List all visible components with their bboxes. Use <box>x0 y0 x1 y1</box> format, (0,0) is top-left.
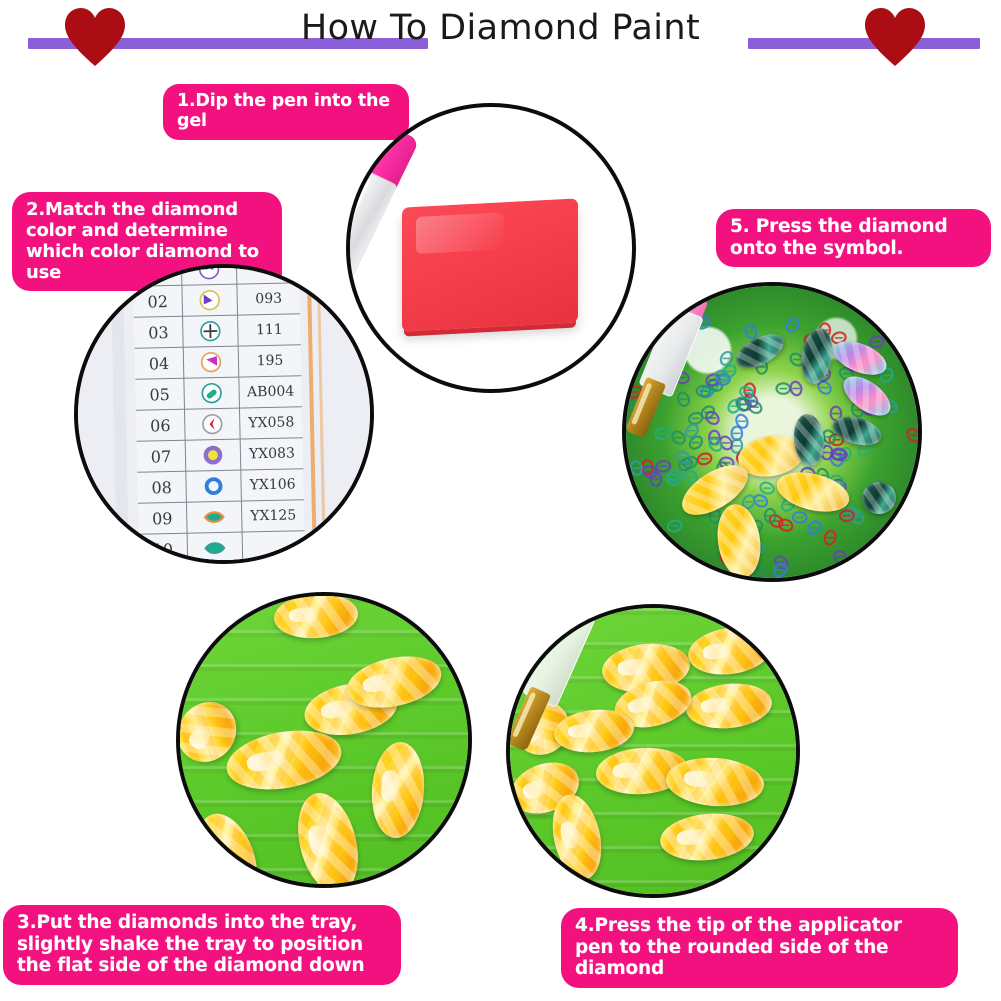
plus-cross-icon <box>183 316 239 347</box>
infographic-canvas: How To Diamond Paint 1.Dip the pen into … <box>0 0 1001 1001</box>
chart-row: 07YX083 <box>137 438 304 472</box>
chart-row: 09YX125 <box>138 500 305 534</box>
diamond-gem <box>684 680 774 733</box>
step-3-label: 3.Put the diamonds into the tray, slight… <box>3 905 401 985</box>
step-1-photo <box>346 103 636 393</box>
diamond-gem <box>664 755 765 810</box>
left-chevron-icon <box>185 409 241 440</box>
chart-row-code: AB004 <box>239 383 301 400</box>
heart-icon <box>862 6 928 68</box>
chart-row: 04195 <box>135 345 302 379</box>
step-5-photo <box>622 282 922 582</box>
chart-row-number: 10 <box>139 533 189 564</box>
chart-row-code: 195 <box>239 352 301 369</box>
marquise-leaf-icon <box>187 502 243 533</box>
chart-row: 08YX106 <box>137 469 304 503</box>
chart-row-code: YX125 <box>242 507 304 524</box>
chart-row-number: 04 <box>135 347 185 379</box>
chart-row: 03111 <box>134 314 301 348</box>
diamond-gem <box>273 592 360 641</box>
chart-row-code: YX106 <box>241 476 303 493</box>
step-4-label: 4.Press the tip of the applicator pen to… <box>561 908 958 988</box>
chart-row-number: 05 <box>135 378 185 410</box>
chart-row-number: 06 <box>136 409 186 441</box>
header: How To Diamond Paint <box>0 0 1001 78</box>
chart-row-code <box>243 546 305 547</box>
chart-row-number: 08 <box>137 471 187 503</box>
chart-row: 06YX058 <box>136 407 303 441</box>
chart-row-number: 02 <box>133 285 183 317</box>
page-title: How To Diamond Paint <box>0 8 1001 48</box>
step-2-photo: 0102802093031110419505AB00406YX05807YX08… <box>74 264 374 564</box>
triangle-upper-right-icon <box>184 347 240 378</box>
step-3-photo <box>176 592 472 888</box>
step-4-photo <box>506 604 800 898</box>
diamond-gem <box>791 413 826 468</box>
diamond-gem <box>369 740 428 839</box>
marquise-leaf-icon <box>188 533 244 564</box>
triangle-upper-left-icon <box>182 285 238 316</box>
open-ring-icon <box>186 471 242 502</box>
diagonal-capsule-icon <box>184 378 240 409</box>
chart-row: 10 <box>139 531 306 564</box>
circle-two-dots-icon <box>182 264 238 285</box>
chart-row-number: 09 <box>138 502 188 534</box>
chart-row-code: YX083 <box>241 445 303 462</box>
chart-row-number: 03 <box>134 316 184 348</box>
pen-tip <box>506 686 551 752</box>
chart-row-number: 01 <box>133 264 183 286</box>
chart-row-code: YX058 <box>240 414 302 431</box>
chart-row-code: 111 <box>238 321 300 338</box>
chart-row-code: 093 <box>238 290 300 307</box>
color-symbol-chart: 0102802093031110419505AB00406YX05807YX08… <box>133 264 305 564</box>
diamond-gem <box>862 482 896 514</box>
step-5-label: 5. Press the diamond onto the symbol. <box>716 209 991 267</box>
pen-tip <box>625 377 666 439</box>
diamond-gem <box>658 809 756 865</box>
dot-in-ring-icon <box>186 440 242 471</box>
chart-row-number: 07 <box>137 440 187 472</box>
chart-row: 02093 <box>133 283 300 317</box>
chart-row: 05AB004 <box>135 376 302 410</box>
